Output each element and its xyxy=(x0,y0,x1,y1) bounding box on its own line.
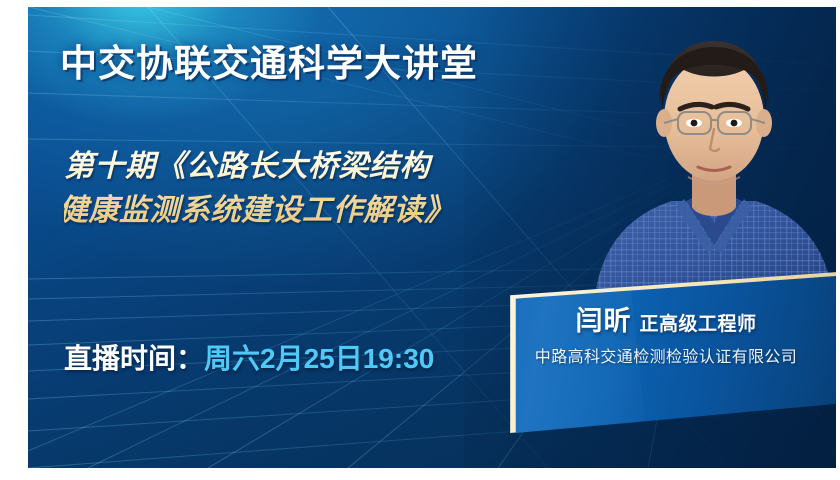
subtitle-line-2: 健康监测系统建设工作解读》 xyxy=(58,189,594,233)
panel-text-layer: 闫昕正高级工程师 中路高科交通检测检验认证有限公司 xyxy=(496,265,836,425)
speaker-portrait xyxy=(588,7,836,307)
subtitle-line-1: 第十期《公路长大桥梁结构 xyxy=(64,150,430,183)
live-time-row: 直播时间：周六2月25日19:30 xyxy=(64,337,434,377)
speaker-info-panel: 闫昕正高级工程师 中路高科交通检测检验认证有限公司 xyxy=(496,265,836,445)
live-time-label: 直播时间： xyxy=(64,343,204,374)
speaker-name-row: 闫昕正高级工程师 xyxy=(496,299,836,338)
speaker-title: 正高级工程师 xyxy=(639,314,756,335)
poster-headline: 中交协联交通科学大讲堂 xyxy=(60,33,478,87)
poster-artboard: 中交协联交通科学大讲堂 第十期《公路长大桥梁结构 健康监测系统建设工作解读》 直… xyxy=(28,7,836,468)
webinar-poster: 中交协联交通科学大讲堂 第十期《公路长大桥梁结构 健康监测系统建设工作解读》 直… xyxy=(0,0,840,480)
live-time-value: 周六2月25日19:30 xyxy=(204,343,434,374)
poster-subtitle: 第十期《公路长大桥梁结构 健康监测系统建设工作解读》 xyxy=(64,145,594,233)
speaker-name: 闫昕 xyxy=(575,306,631,336)
speaker-organization: 中路高科交通检测检验认证有限公司 xyxy=(496,343,836,367)
